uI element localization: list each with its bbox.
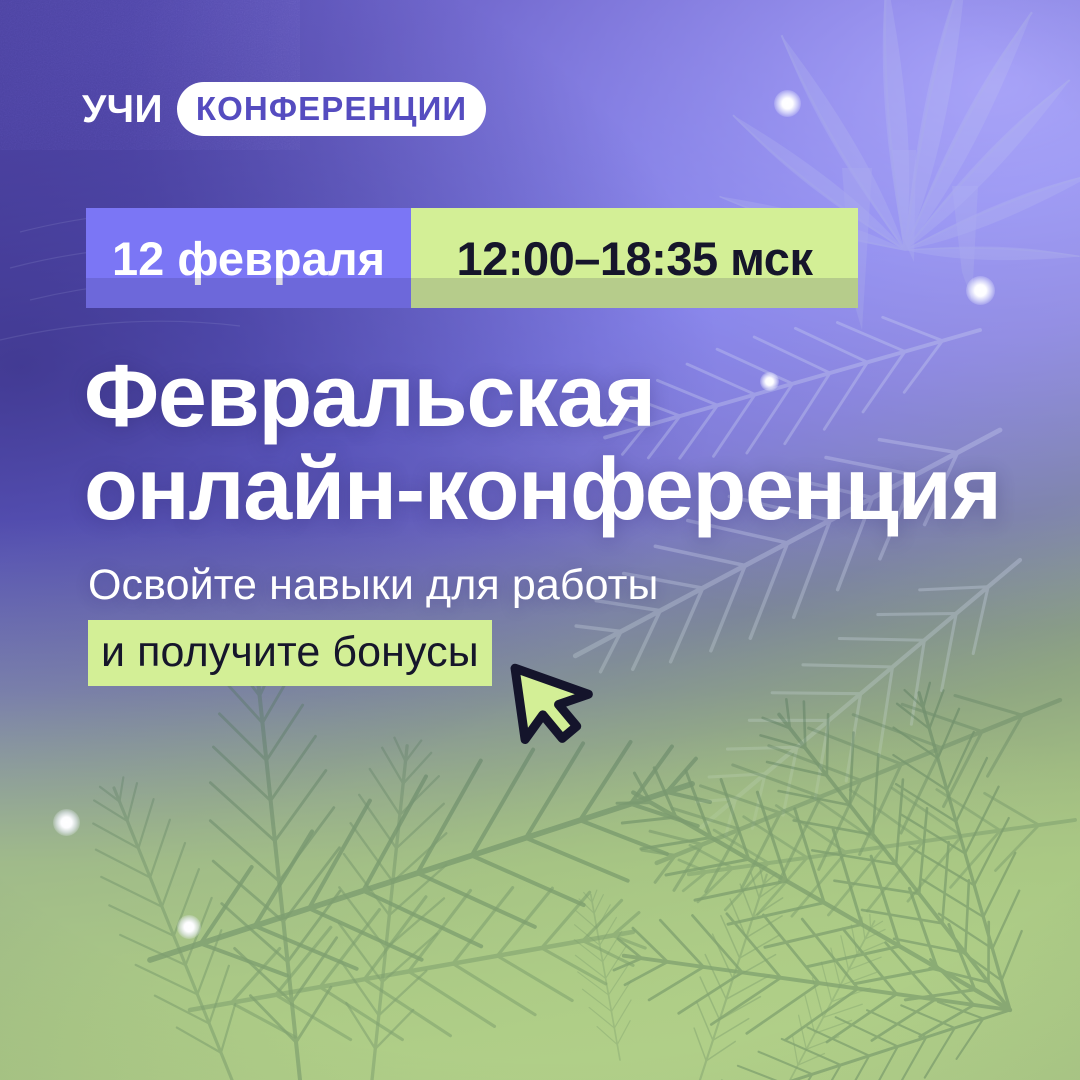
brand-word: УЧИ [82,90,163,129]
subtitle-line-2-highlight: и получите бонусы [88,620,492,686]
event-date-badge: 12 февраля [86,208,411,308]
event-time-badge: 12:00–18:35 мск [411,208,858,308]
event-badge-row: 12 февраля 12:00–18:35 мск [86,208,858,308]
headline-line-1: Февральская [84,352,1001,440]
poster-content: УЧИ КОНФЕРЕНЦИИ 12 февраля 12:00–18:35 м… [0,0,1080,1080]
brand-pill-label: КОНФЕРЕНЦИИ [177,82,486,136]
promo-poster: УЧИ КОНФЕРЕНЦИИ 12 февраля 12:00–18:35 м… [0,0,1080,1080]
brand-logo[interactable]: УЧИ КОНФЕРЕНЦИИ [82,82,486,136]
headline-line-2: онлайн-конференция [84,445,1001,533]
page-title: Февральская онлайн-конференция [84,352,1001,533]
subtitle: Освойте навыки для работы и получите бон… [88,560,658,686]
subtitle-line-1: Освойте навыки для работы [88,560,658,611]
